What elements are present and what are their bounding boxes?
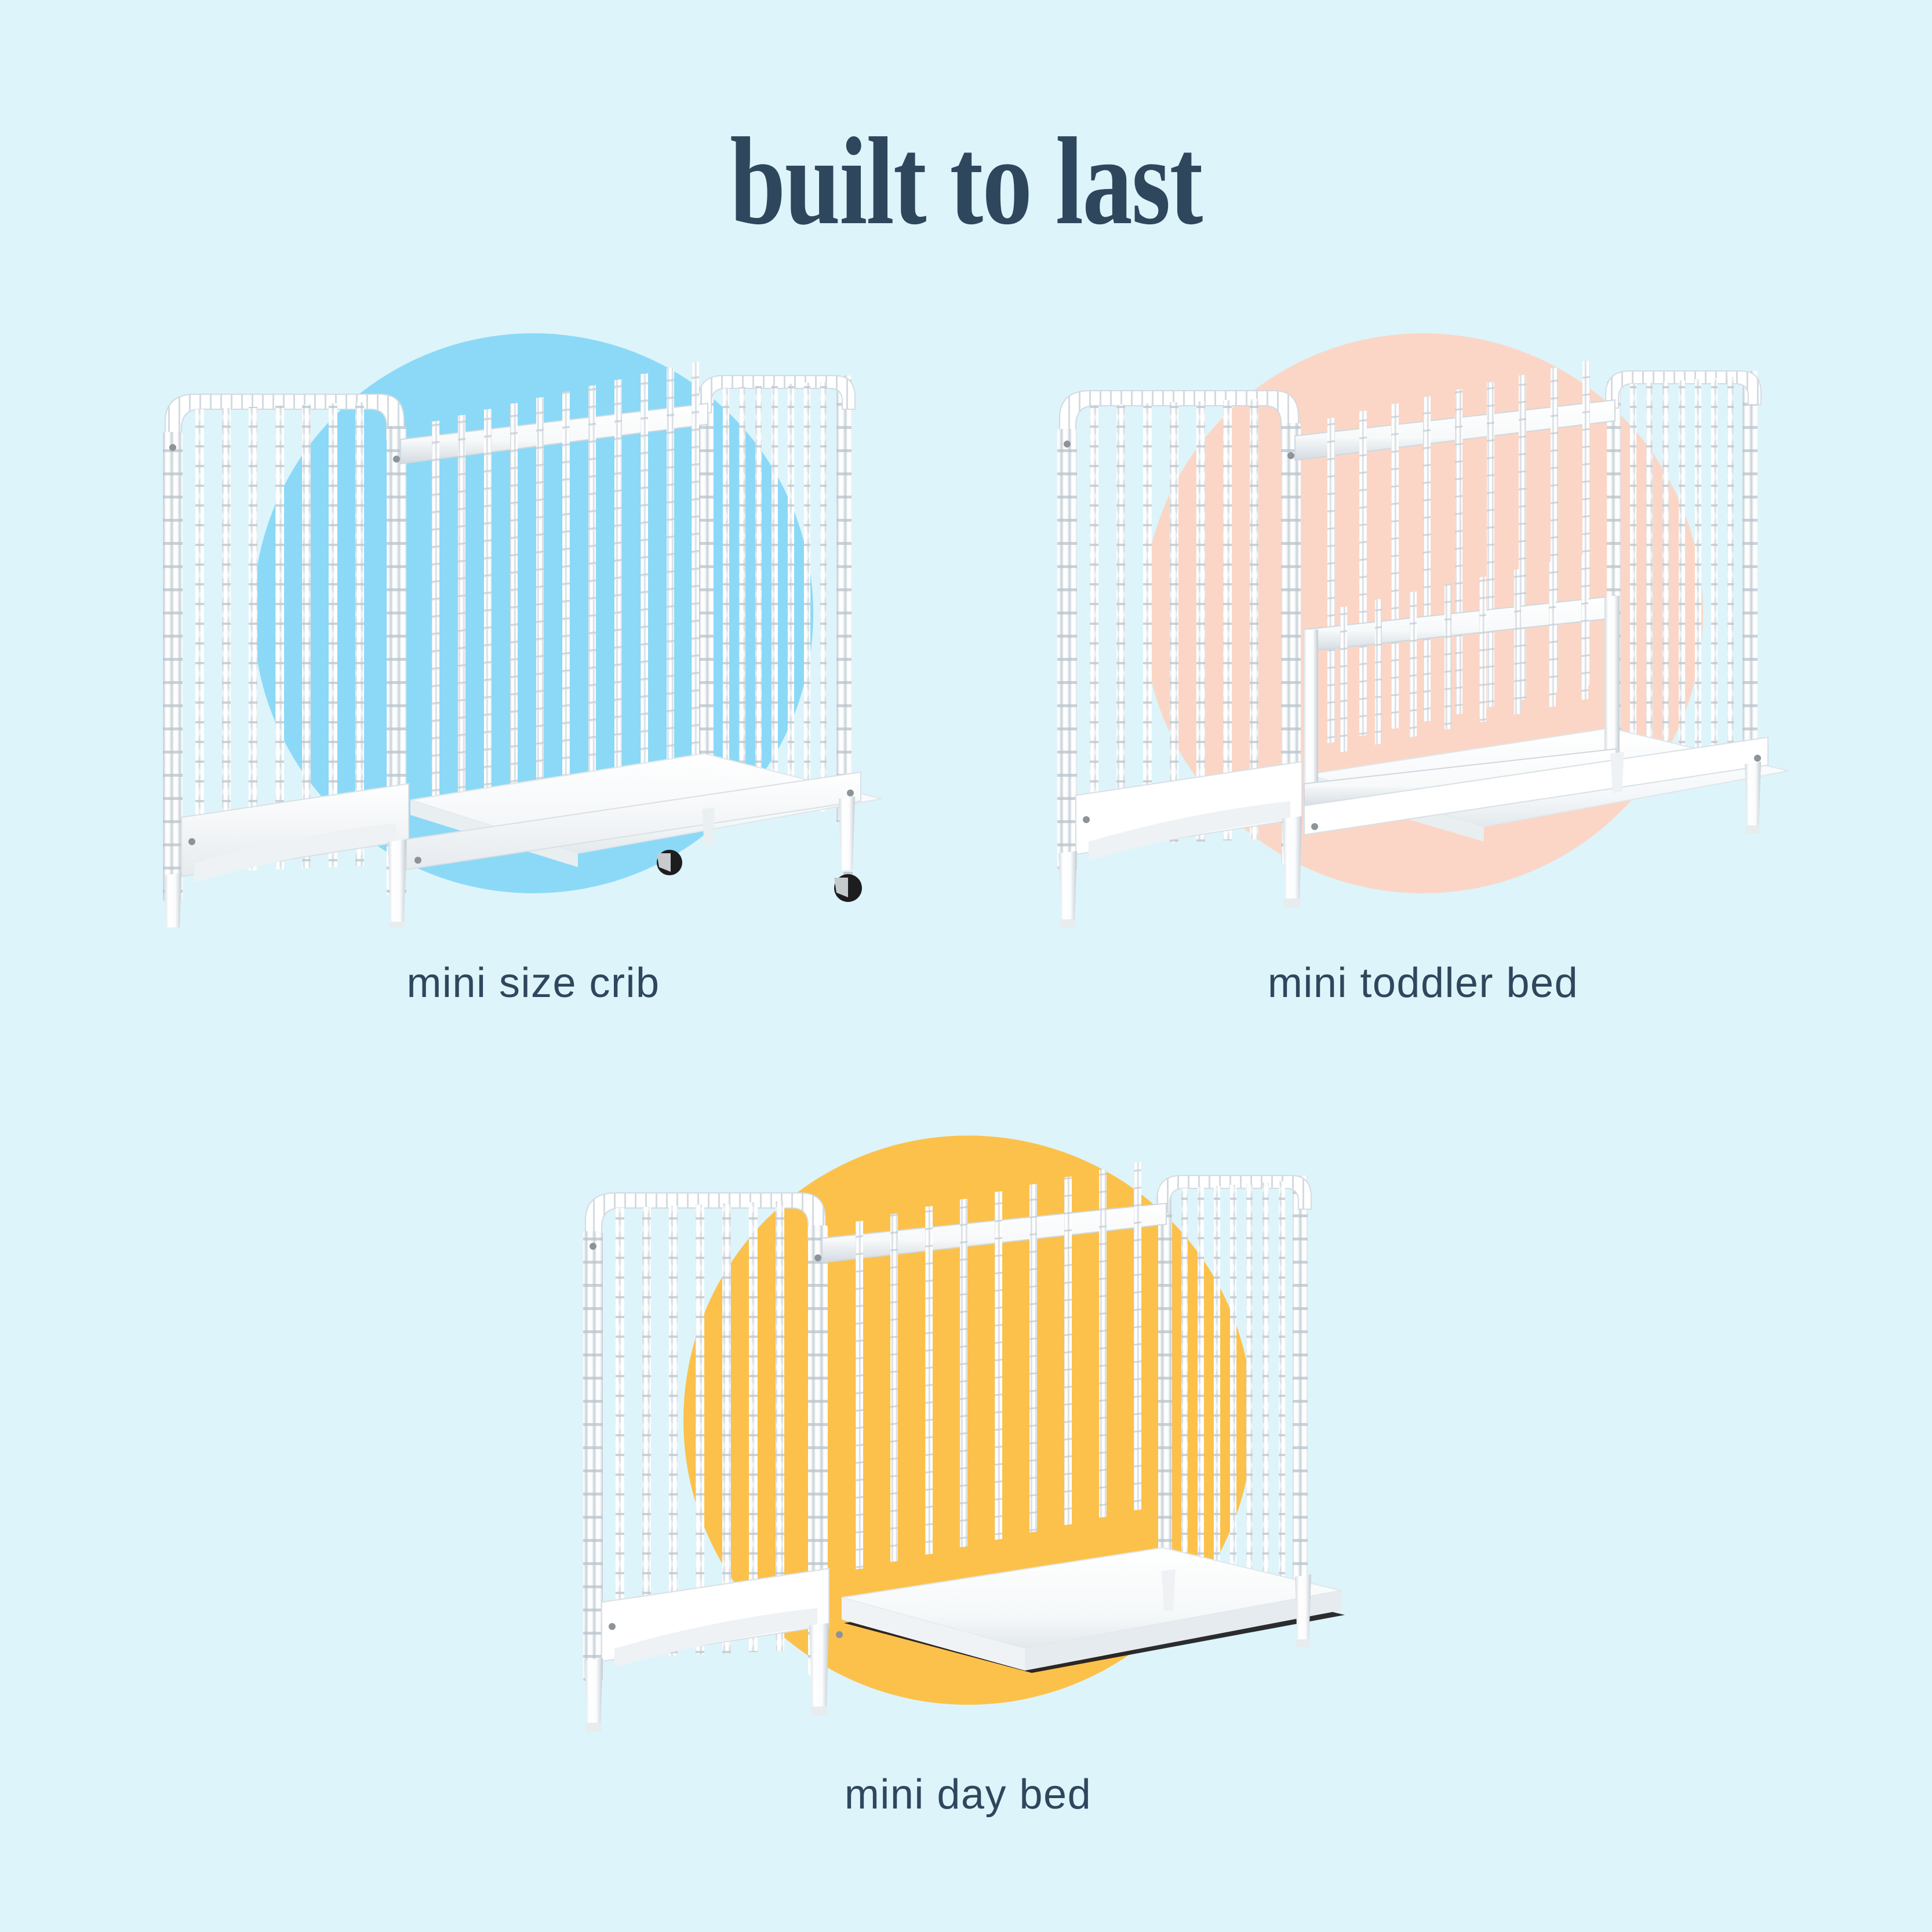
- screw-icon: [590, 1243, 596, 1250]
- screw-icon: [1083, 816, 1090, 823]
- product-image-mini-toddler-bed: [997, 290, 1849, 927]
- screw-icon: [393, 456, 400, 463]
- screw-icon: [1311, 823, 1318, 830]
- screw-icon: [1064, 441, 1071, 447]
- product-image-mini-day-bed: [522, 1101, 1414, 1739]
- screw-icon: [836, 1631, 843, 1638]
- caption-mini-size-crib: mini size crib: [107, 959, 959, 1007]
- product-card-mini-day-bed: mini day bed: [522, 1101, 1414, 1872]
- page-title: built to last: [193, 119, 1738, 244]
- screw-icon: [414, 857, 421, 864]
- caption-mini-toddler-bed: mini toddler bed: [997, 959, 1849, 1007]
- product-card-mini-toddler-bed: mini toddler bed: [997, 290, 1849, 1061]
- product-card-mini-size-crib: mini size crib: [107, 290, 959, 1061]
- caption-mini-day-bed: mini day bed: [522, 1771, 1414, 1818]
- screw-icon: [188, 838, 195, 845]
- screw-icon: [847, 789, 854, 796]
- product-image-mini-size-crib: [107, 290, 959, 927]
- screw-icon: [169, 444, 176, 451]
- crib-caster-rear-left: [657, 850, 682, 875]
- screw-icon: [1287, 452, 1294, 459]
- infographic-root: built to last: [0, 0, 1932, 1932]
- crib-caster-rear-right: [834, 872, 862, 902]
- screw-icon: [1754, 755, 1761, 762]
- screw-icon: [609, 1623, 616, 1630]
- screw-icon: [814, 1254, 821, 1261]
